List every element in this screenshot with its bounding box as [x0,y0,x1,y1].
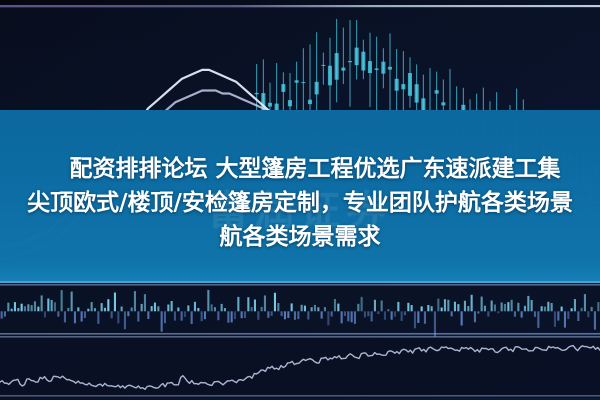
headline-line-1: 配资排排论坛 大型篷房工程优选广东速派建工集 [0,152,600,186]
blue-band-bottom-rule [0,281,600,283]
headline-line-3: 航各类场景需求 [0,220,600,254]
headline-line-2: 尖顶欧式/楼顶/安检篷房定制，专业团队护航各类场景 [0,186,600,220]
volume-bar-series [0,286,600,337]
headline-block: 配资排排论坛 大型篷房工程优选广东速派建工集 尖顶欧式/楼顶/安检篷房定制，专业… [0,152,600,254]
banner-image: 富润证券 配资排排论坛 大型篷房工程优选广东速派建工集 尖顶欧式/楼顶/安检篷房… [0,0,600,400]
top-hairline-shadow [0,7,600,8]
indicator-line-series [0,338,600,398]
